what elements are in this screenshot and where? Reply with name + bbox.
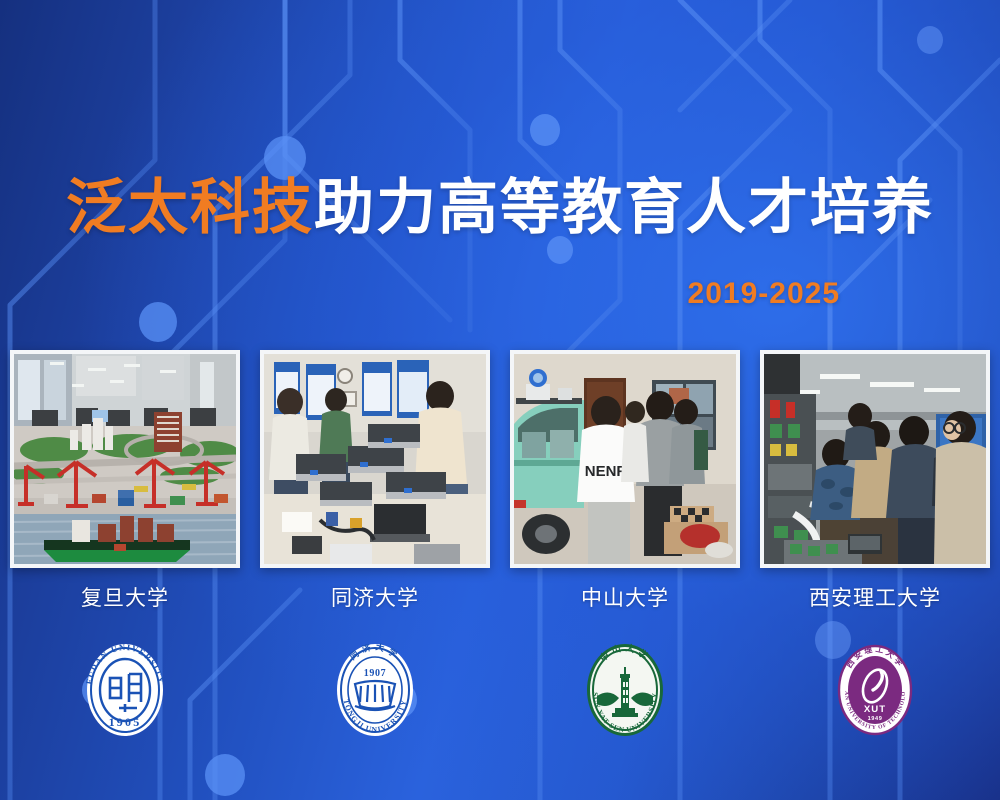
xian-university-of-technology-logo: 西安理工大学 XI'AN UNIVERSITY OF TECHNOLOGY XU… [829, 640, 921, 740]
photo-card-sysu: NENR [510, 350, 740, 568]
title-rest: 助力高等教育人才培养 [314, 174, 934, 241]
tongji-founding-year: 1907 [364, 668, 386, 679]
photo-card-tongji [260, 350, 490, 568]
university-label-fudan: 复旦大学 [10, 582, 240, 614]
title-brand: 泛太科技 [66, 174, 314, 241]
xut-founding-year: 1949 [868, 716, 883, 722]
poster-root: 泛太科技助力高等教育人才培养 2019-2025 [0, 0, 1000, 800]
photo-card-fudan [10, 350, 240, 568]
tongji-university-logo: 同济大学 TONGJI UNIVERSITY 1907 [329, 640, 421, 740]
electronics-lab-bench-photo [264, 354, 486, 564]
xut-abbreviation: XUT [864, 704, 886, 715]
industrial-equipment-demo-photo [764, 354, 986, 564]
university-label-row: 复旦大学 同济大学 中山大学 西安理工大学 [10, 582, 990, 614]
poster-subtitle-years: 2019-2025 [688, 277, 840, 311]
university-logo-row: FUDAN UNIVERSITY 1905 [10, 640, 990, 740]
university-label-sysu: 中山大学 [510, 582, 740, 614]
svg-text:NENR: NENR [585, 463, 628, 480]
logo-cell-fudan: FUDAN UNIVERSITY 1905 [10, 640, 240, 740]
logo-cell-xut: 西安理工大学 XI'AN UNIVERSITY OF TECHNOLOGY XU… [760, 640, 990, 740]
poster-title: 泛太科技助力高等教育人才培养 [0, 178, 1000, 238]
university-label-xut: 西安理工大学 [760, 582, 990, 614]
autonomous-vehicle-photo: NENR [514, 354, 736, 564]
fudan-founding-year: 1905 [109, 715, 142, 729]
fudan-university-logo: FUDAN UNIVERSITY 1905 [79, 640, 171, 740]
logo-cell-sysu: 中山大学 SUN YAT-SEN UNIVERSITY [510, 640, 740, 740]
university-label-tongji: 同济大学 [260, 582, 490, 614]
logo-cell-tongji: 同济大学 TONGJI UNIVERSITY 1907 [260, 640, 490, 740]
smart-city-port-model-photo [14, 354, 236, 564]
photo-card-row: NENR [10, 350, 990, 570]
sun-yat-sen-university-logo: 中山大学 SUN YAT-SEN UNIVERSITY [579, 640, 671, 740]
photo-card-xut [760, 350, 990, 568]
